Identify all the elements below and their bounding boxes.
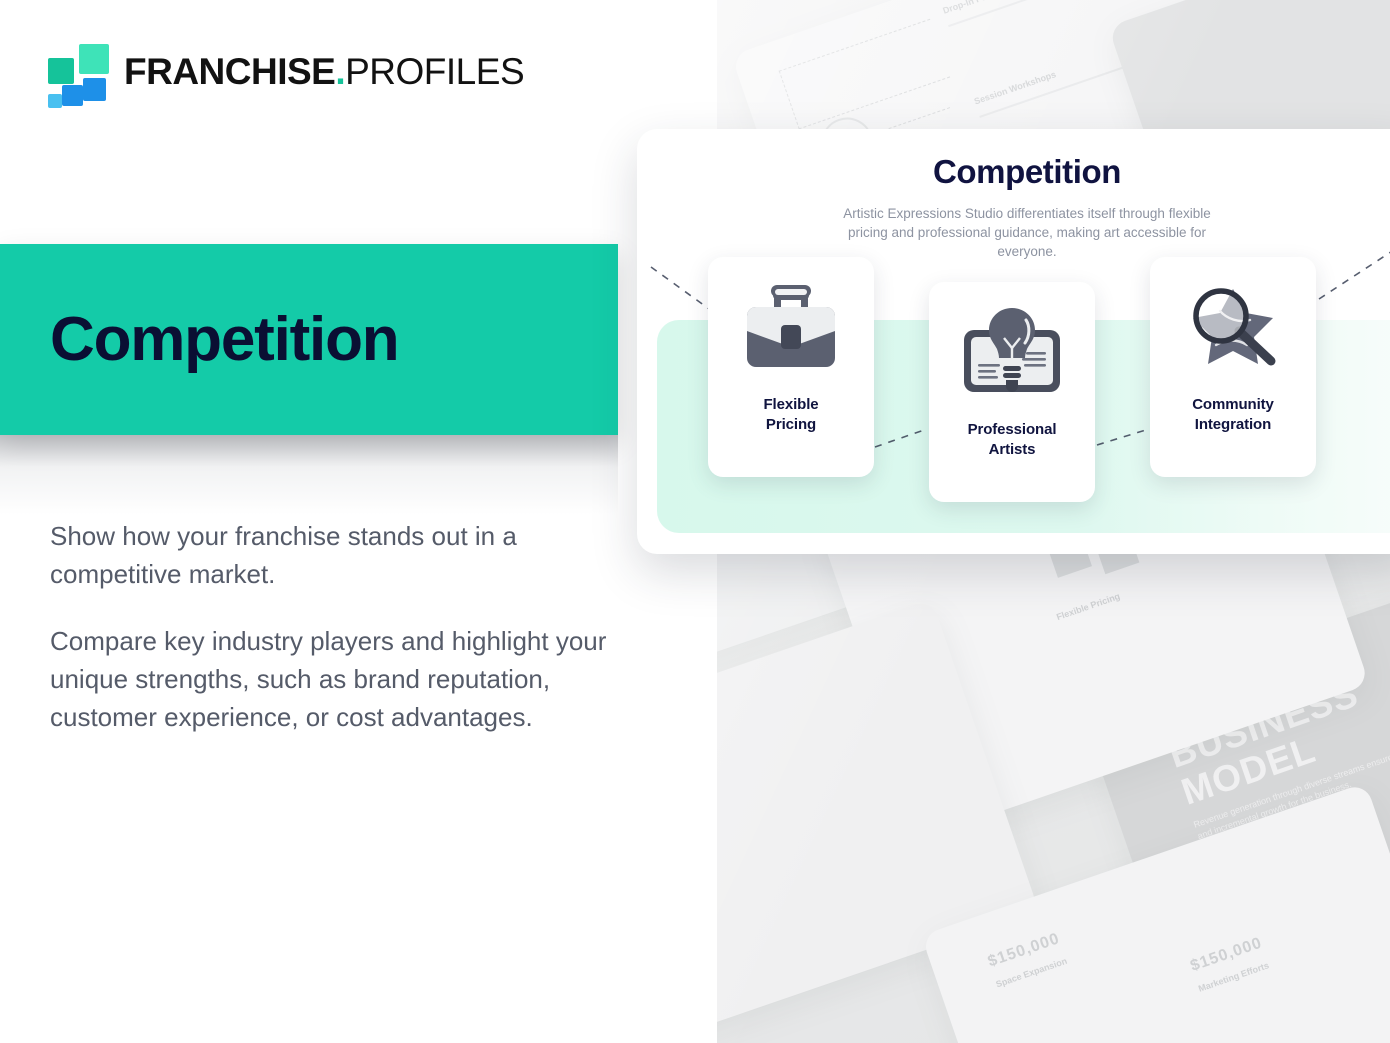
feature-card-label: ProfessionalArtists xyxy=(968,420,1057,459)
preview-subtitle: Artistic Expressions Studio differentiat… xyxy=(827,204,1227,261)
slide-preview-panel[interactable]: Competition Artistic Expressions Studio … xyxy=(637,129,1390,554)
briefcase-icon xyxy=(733,279,849,387)
feature-card-label: FlexiblePricing xyxy=(763,395,818,434)
banner-shadow xyxy=(0,435,618,515)
feature-card-flexible-pricing[interactable]: FlexiblePricing xyxy=(708,257,874,477)
preview-title: Competition xyxy=(637,153,1390,191)
feature-card-professional-artists[interactable]: ProfessionalArtists xyxy=(929,282,1095,502)
section-title-banner: Competition xyxy=(0,244,618,435)
brand-logo[interactable]: FRANCHISE.PROFILES xyxy=(48,44,524,100)
logo-squares-icon xyxy=(48,44,106,100)
brand-name-light: PROFILES xyxy=(345,51,524,92)
section-description: Show how your franchise stands out in a … xyxy=(50,518,630,736)
brand-name-bold: FRANCHISE xyxy=(124,51,335,92)
description-paragraph-2: Compare key industry players and highlig… xyxy=(50,623,630,736)
magnifier-star-icon xyxy=(1175,279,1291,387)
feature-card-community-integration[interactable]: CommunityIntegration xyxy=(1150,257,1316,477)
feature-card-label: CommunityIntegration xyxy=(1192,395,1274,434)
description-paragraph-1: Show how your franchise stands out in a … xyxy=(50,518,630,593)
lightbulb-screen-icon xyxy=(954,304,1070,412)
brand-dot: . xyxy=(335,51,345,92)
page-title: Competition xyxy=(50,309,398,371)
ghost-label: Flexible Pricing xyxy=(1055,591,1121,622)
brand-wordmark: FRANCHISE.PROFILES xyxy=(124,51,524,93)
ghost-label: Session Workshops xyxy=(973,69,1057,106)
slide-canvas: Drop-In Fees Session Workshops Commissio… xyxy=(0,0,1390,1043)
